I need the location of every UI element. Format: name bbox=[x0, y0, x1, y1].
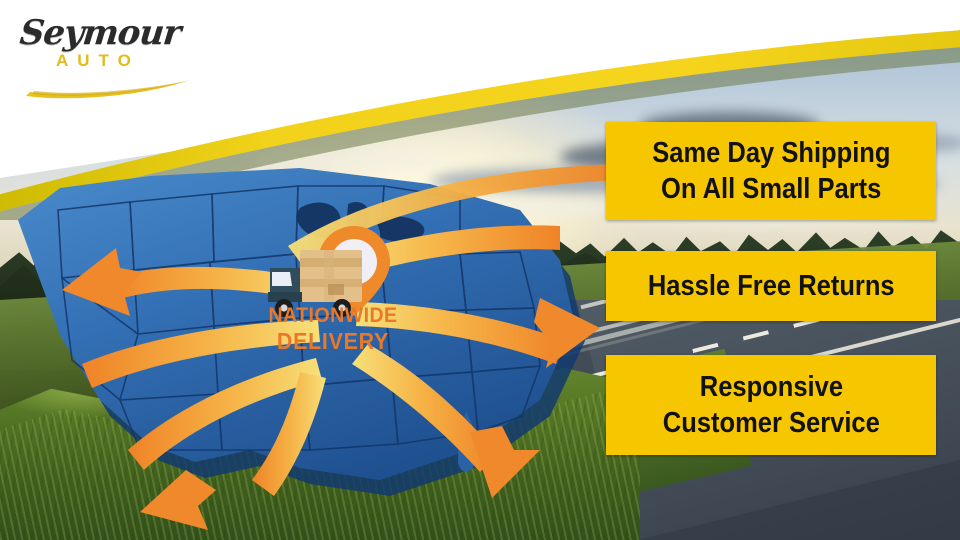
arrow-head-southwest bbox=[140, 470, 216, 530]
brand-logo[interactable]: Seymour AUTO bbox=[20, 16, 200, 96]
banner-line: Same Day Shipping bbox=[652, 138, 890, 169]
feature-banner-responsive-customer-service[interactable]: Responsive Customer Service bbox=[606, 355, 936, 455]
promo-banner-stage: Seymour AUTO bbox=[0, 0, 960, 540]
nationwide-line-1: NATIONWIDE bbox=[263, 305, 403, 327]
banner-line: Customer Service bbox=[662, 408, 879, 439]
logo-swoosh-icon bbox=[18, 68, 198, 102]
banner-line: Hassle Free Returns bbox=[648, 271, 895, 302]
brand-subtitle: AUTO bbox=[56, 52, 200, 69]
arrow-head-southeast bbox=[470, 426, 540, 498]
brand-name: Seymour bbox=[18, 16, 202, 50]
nationwide-delivery-label: NATIONWIDE DELIVERY bbox=[258, 305, 408, 353]
feature-banner-hassle-free-returns[interactable]: Hassle Free Returns bbox=[606, 251, 936, 321]
feature-banner-same-day-shipping[interactable]: Same Day Shipping On All Small Parts bbox=[606, 122, 936, 220]
banner-line: On All Small Parts bbox=[661, 174, 881, 205]
nationwide-line-2: DELIVERY bbox=[263, 329, 403, 353]
banner-line: Responsive bbox=[699, 372, 842, 403]
